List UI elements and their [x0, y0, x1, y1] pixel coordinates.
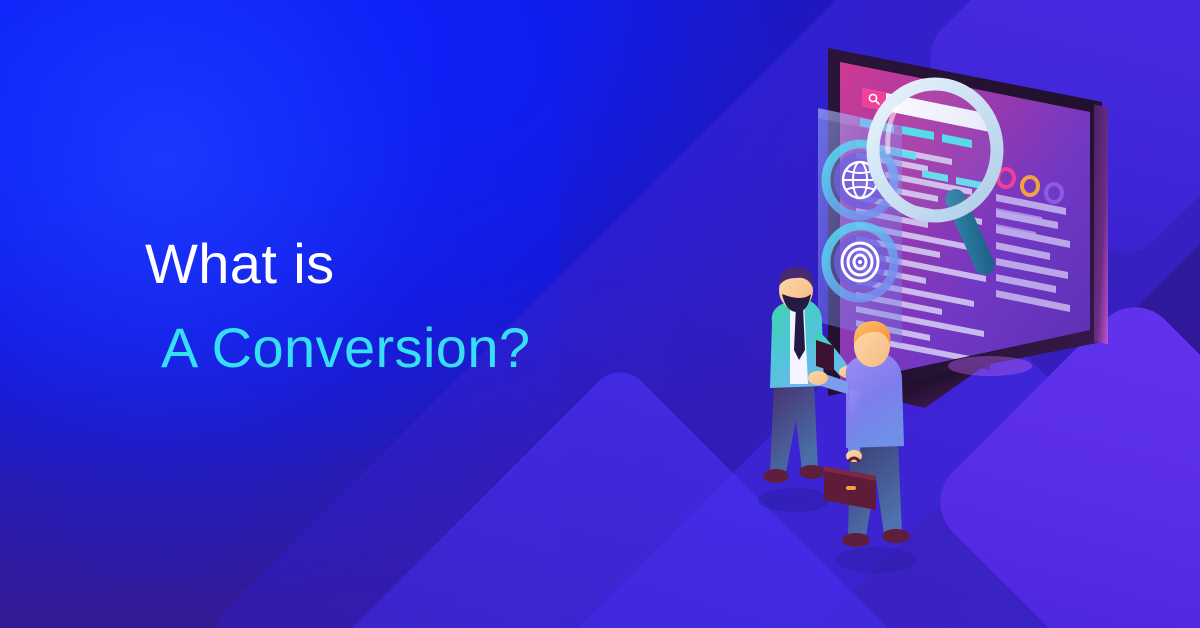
- shoe-left-2: [799, 465, 825, 479]
- monitor-bezel-edge: [1094, 104, 1108, 344]
- hand-right-shake: [808, 371, 828, 385]
- headline-block: What is A Conversion?: [145, 236, 530, 376]
- target-icon: [842, 243, 878, 281]
- shadow-right: [836, 547, 916, 573]
- shoe-left-1: [763, 469, 789, 483]
- tie: [794, 306, 805, 360]
- shoe-right-1: [842, 533, 870, 547]
- headline-line-1: What is: [145, 236, 530, 292]
- shadow-left: [758, 488, 830, 512]
- target-icon-group: [826, 226, 894, 298]
- headline-line-2: A Conversion?: [161, 320, 530, 376]
- illustration: [690, 0, 1200, 628]
- shoe-right-2: [882, 529, 910, 543]
- banner-root: What is A Conversion?: [0, 0, 1200, 628]
- left-trousers: [770, 382, 818, 472]
- arm-right-case: [848, 390, 862, 452]
